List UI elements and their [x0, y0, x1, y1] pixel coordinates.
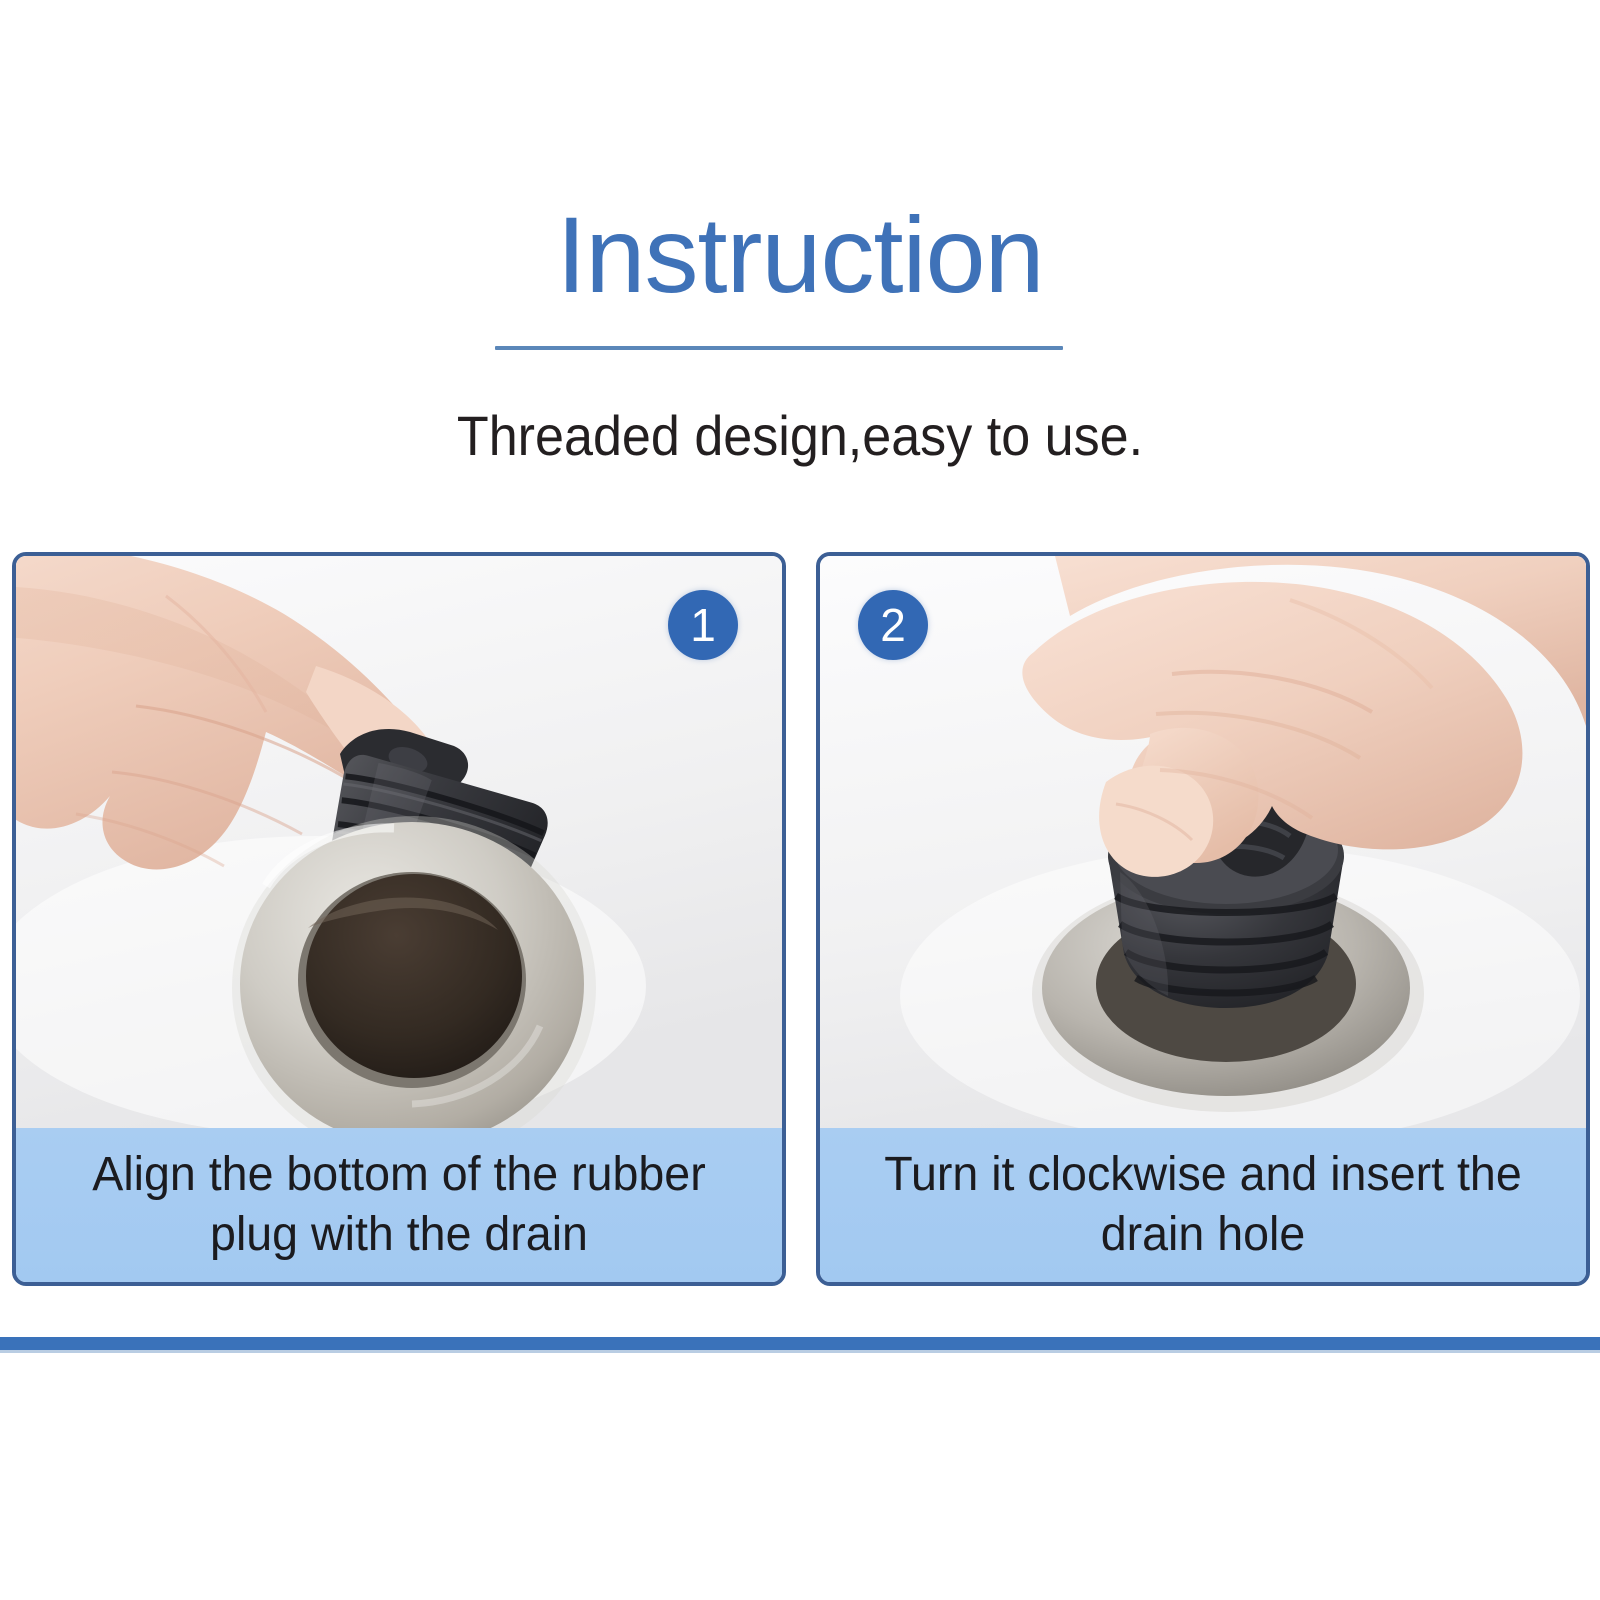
hand-turning-plug-illustration: [820, 556, 1586, 1136]
bottom-divider-bar: [0, 1337, 1600, 1350]
header: Instruction Threaded design,easy to use.: [0, 0, 1600, 520]
step-card-2: 2 Turn it clockwise and insert the drain…: [816, 552, 1590, 1286]
step-caption-bar-1: Align the bottom of the rubber plug with…: [16, 1128, 782, 1282]
step-caption-text-1: Align the bottom of the rubber plug with…: [51, 1145, 747, 1265]
step-1-photo: [16, 556, 782, 1136]
step-badge-2: 2: [858, 590, 928, 660]
title-underline-rule: [495, 346, 1063, 350]
step-2-photo: [820, 556, 1586, 1136]
steps-container: 1 Align the bottom of the rubber plug wi…: [0, 552, 1600, 1288]
hand-plug-drain-illustration: [16, 556, 782, 1136]
step-badge-1: 1: [668, 590, 738, 660]
step-caption-text-2: Turn it clockwise and insert the drain h…: [855, 1145, 1551, 1265]
step-card-1: 1 Align the bottom of the rubber plug wi…: [12, 552, 786, 1286]
bottom-divider-shadow: [0, 1350, 1600, 1353]
page-title: Instruction: [0, 196, 1600, 314]
subtitle: Threaded design,easy to use.: [56, 404, 1544, 468]
step-caption-bar-2: Turn it clockwise and insert the drain h…: [820, 1128, 1586, 1282]
